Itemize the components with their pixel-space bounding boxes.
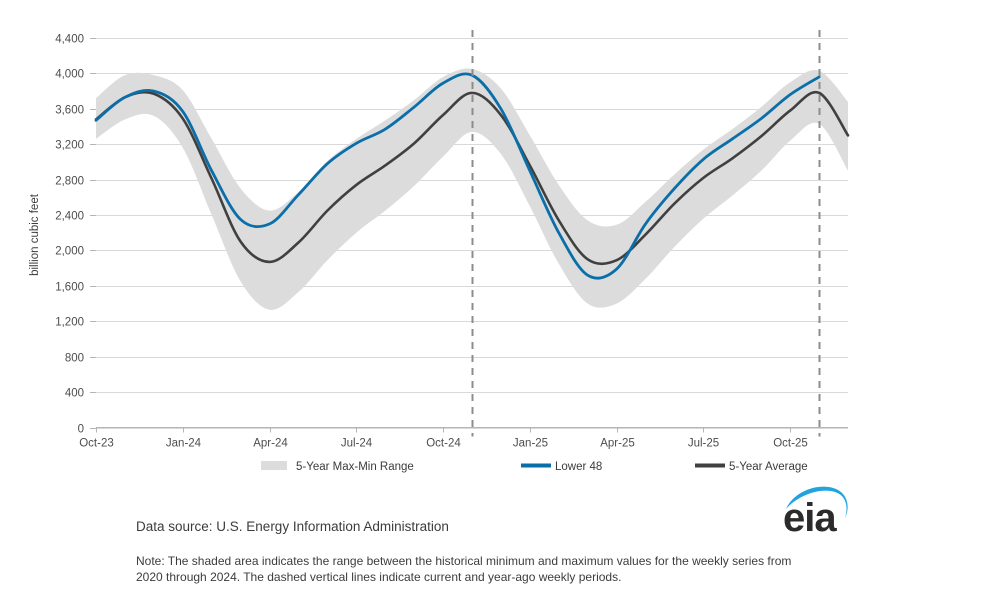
y-axis-title: billion cubic feet: [29, 193, 41, 276]
legend-label-lower48: Lower 48: [555, 461, 602, 473]
y-axis-tick-label: 800: [65, 353, 84, 365]
x-axis-tick-label: Oct-25: [773, 438, 808, 450]
x-axis-tick-label: Jul-25: [688, 438, 719, 450]
x-axis-tick-labels: Oct-23Jan-24Apr-24Jul-24Oct-24Jan-25Apr-…: [79, 438, 808, 450]
x-axis-tick-label: Apr-24: [253, 438, 288, 450]
y-axis-tick-label: 2,000: [55, 246, 84, 258]
legend-swatch-lower48: [521, 464, 551, 468]
y-axis-tick-label: 2,400: [55, 211, 84, 223]
legend: 5-Year Max-Min Range Lower 48 5-Year Ave…: [261, 461, 808, 473]
x-axis-tick-label: Jan-24: [166, 438, 202, 450]
natural-gas-storage-chart: 4,4004,0003,6003,2002,8002,4002,0001,600…: [0, 0, 985, 600]
note-line-2: 2020 through 2024. The dashed vertical l…: [136, 570, 621, 584]
chart-container: 4,4004,0003,6003,2002,8002,4002,0001,600…: [0, 0, 985, 600]
x-axis-tick-label: Oct-24: [426, 438, 461, 450]
y-axis-tick-label: 1,200: [55, 317, 84, 329]
x-axis-tick-label: Jul-24: [341, 438, 373, 450]
eia-logo: eia: [783, 487, 848, 540]
y-axis-tick-label: 3,200: [55, 140, 84, 152]
y-axis-tick-label: 400: [65, 388, 84, 400]
legend-label-range: 5-Year Max-Min Range: [296, 461, 414, 473]
legend-label-average: 5-Year Average: [729, 461, 808, 473]
y-axis-tick-label: 0: [78, 424, 84, 436]
y-axis-tick-label: 4,000: [55, 69, 84, 81]
note-line-1: Note: The shaded area indicates the rang…: [136, 554, 791, 568]
legend-swatch-range: [261, 461, 287, 470]
x-axis-tick-label: Oct-23: [79, 438, 114, 450]
y-axis-tick-label: 4,400: [55, 34, 84, 46]
data-source-text: Data source: U.S. Energy Information Adm…: [136, 519, 449, 534]
y-axis-tick-label: 3,600: [55, 105, 84, 117]
legend-swatch-average: [695, 464, 725, 468]
x-axis-tick-label: Apr-25: [600, 438, 635, 450]
eia-wordmark: eia: [783, 496, 837, 540]
y-axis-tick-label: 1,600: [55, 282, 84, 294]
x-axis-tick-label: Jan-25: [513, 438, 548, 450]
y-axis-tick-labels: 4,4004,0003,6003,2002,8002,4002,0001,600…: [55, 34, 84, 436]
y-axis-tick-label: 2,800: [55, 176, 84, 188]
